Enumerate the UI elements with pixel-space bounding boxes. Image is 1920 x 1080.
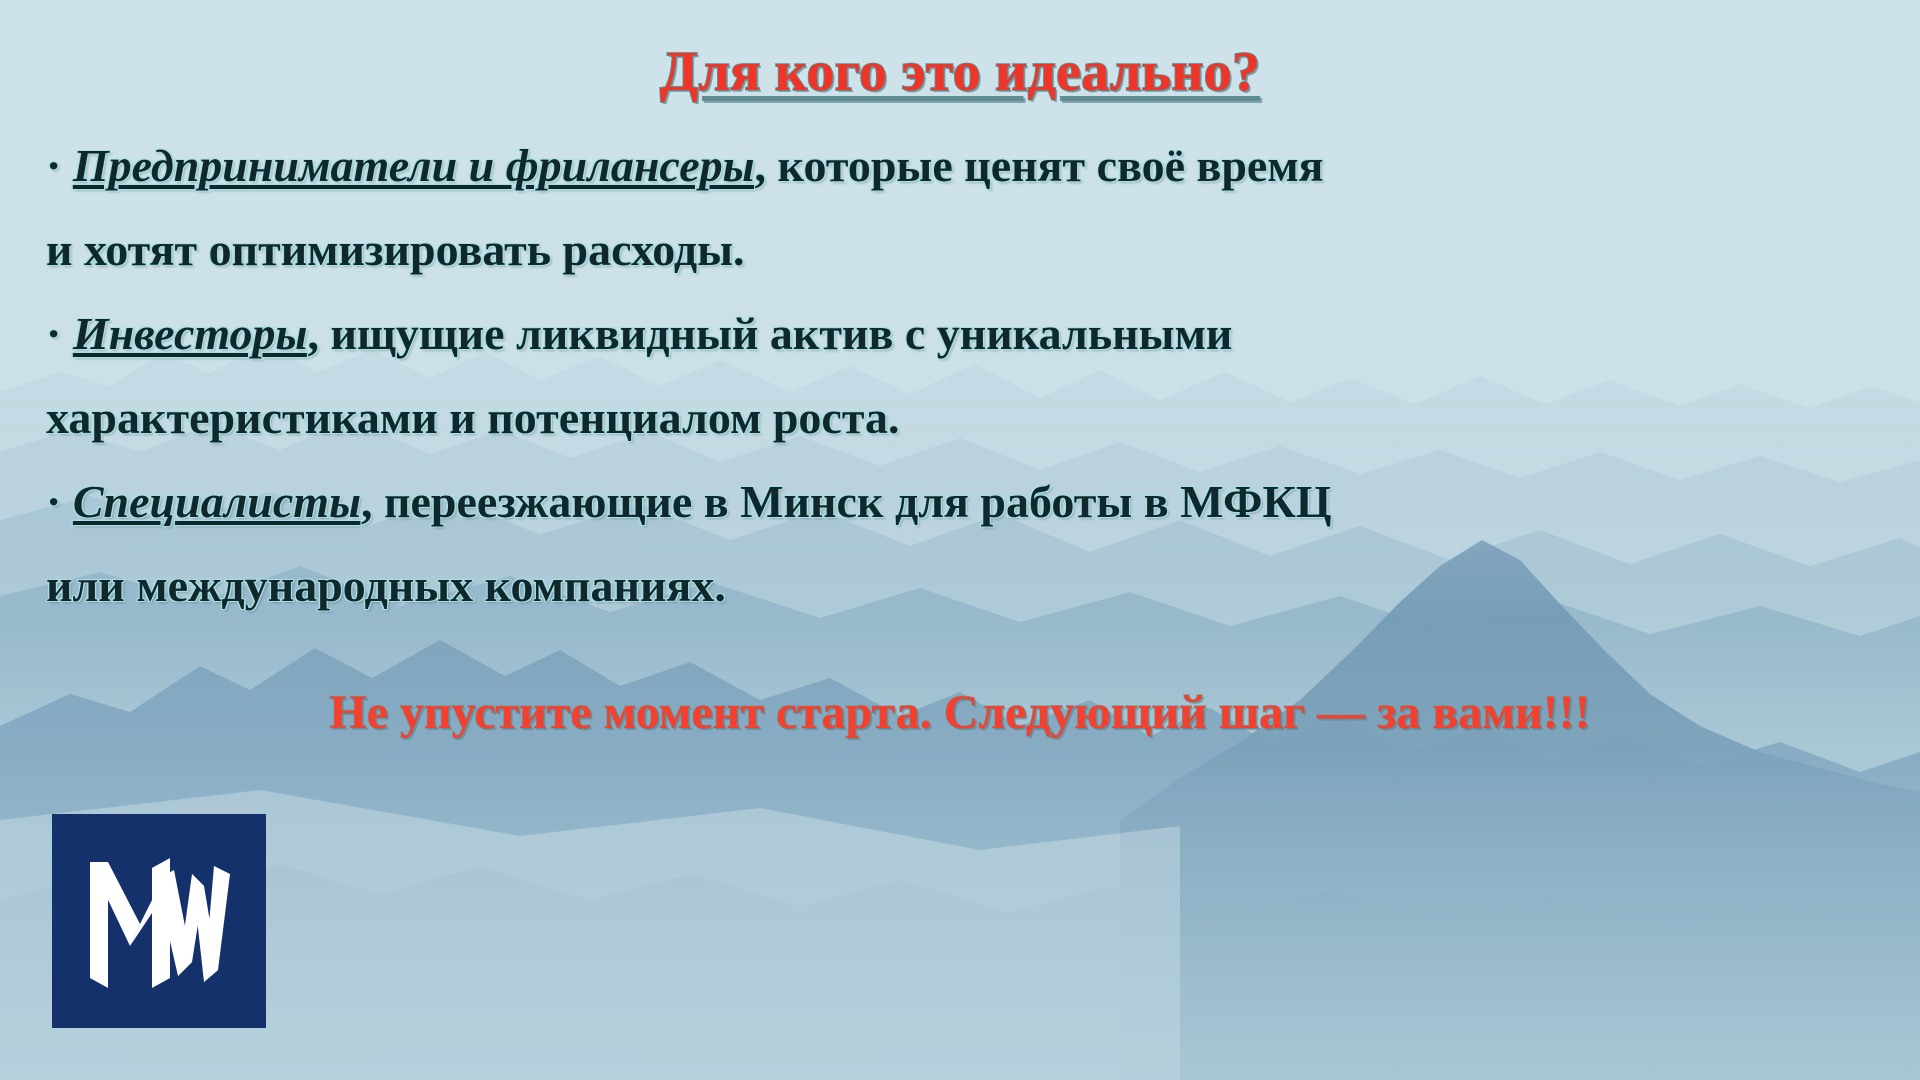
bullet-item-2-line-1: · Инвесторы, ищущие ликвидный актив с ун… [46, 292, 1886, 376]
slide-title: Для кого это идеально? [0, 44, 1920, 100]
bullet-marker: · [46, 308, 61, 359]
mw-monogram-icon [84, 850, 234, 992]
bullet-list: · Предприниматели и фрилансеры, которые … [46, 124, 1886, 628]
bullet-item-2-emphasis: Инвесторы [73, 308, 308, 359]
bullet-item-2-line-2: характеристиками и потенциалом роста. [46, 376, 1886, 460]
bullet-item-3-rest: , переезжающие в Минск для работы в МФКЦ [361, 476, 1332, 527]
slide-title-text: Для кого это идеально? [660, 41, 1260, 103]
bullet-item-3-line-2: или международных компаниях. [46, 544, 1886, 628]
bullet-item-1-line-1: · Предприниматели и фрилансеры, которые … [46, 124, 1886, 208]
bullet-item-1-line-2: и хотят оптимизировать расходы. [46, 208, 1886, 292]
bullet-item-2-rest: , ищущие ликвидный актив с уникальными [307, 308, 1232, 359]
bullet-marker: · [46, 140, 61, 191]
bullet-item-1-emphasis: Предприниматели и фрилансеры [73, 140, 755, 191]
bullet-item-1-rest: , которые ценят своё время [755, 140, 1324, 191]
call-to-action-text: Не упустите момент старта. Следующий шаг… [0, 688, 1920, 738]
slide-content: Для кого это идеально? · Предприниматели… [0, 0, 1920, 1080]
bullet-marker: · [46, 476, 61, 527]
brand-logo [52, 814, 266, 1028]
slide-canvas: Для кого это идеально? · Предприниматели… [0, 0, 1920, 1080]
bullet-item-3-emphasis: Специалисты [73, 476, 361, 527]
bullet-item-3-line-1: · Специалисты, переезжающие в Минск для … [46, 460, 1886, 544]
